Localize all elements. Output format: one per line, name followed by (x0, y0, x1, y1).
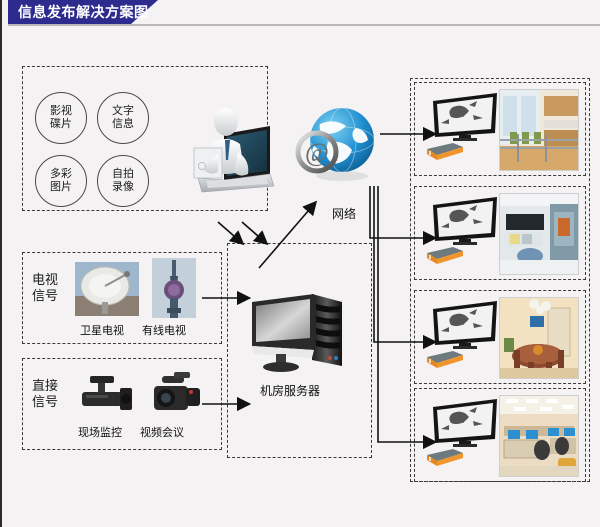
camcorder-icon (144, 370, 204, 418)
tv-signal-label: 电视 信号 (28, 272, 62, 304)
security-camera-icon (76, 374, 138, 418)
source-circle-text-info: 文字 信息 (97, 92, 149, 144)
source-circle-self-recording: 自拍 录像 (97, 155, 149, 207)
source-label-line2: 录像 (112, 181, 134, 194)
endpoint-panel-2 (414, 186, 586, 280)
direct-signal-label: 直接 信号 (28, 378, 62, 410)
endpoint-scene-photo (499, 193, 579, 275)
server-monitor-tower-icon (242, 288, 352, 376)
source-label-line1: 影视 (50, 105, 72, 118)
server-label: 机房服务器 (260, 382, 320, 399)
source-label-line2: 信息 (112, 118, 134, 131)
globe-at-symbol-icon: @ (294, 102, 378, 186)
page-title: 信息发布解决方案图 (18, 2, 149, 23)
endpoint-panel-4 (414, 388, 586, 482)
source-circle-pictures: 多彩 图片 (35, 155, 87, 207)
endpoint-panel-3 (414, 290, 586, 384)
endpoint-scene-photo (499, 395, 579, 477)
satellite-dish-icon (75, 262, 139, 316)
flat-tv-icon (429, 195, 501, 249)
source-label-line1: 自拍 (112, 168, 134, 181)
media-player-box-icon (425, 349, 465, 371)
direct-input-caption-videoconf: 视频会议 (140, 424, 184, 440)
tv-input-caption-cable: 有线电视 (142, 322, 186, 338)
media-player-box-icon (425, 245, 465, 267)
flat-tv-icon (429, 299, 501, 353)
endpoint-panel-1 (414, 82, 586, 176)
source-label-line2: 图片 (50, 181, 72, 194)
media-player-box-icon (425, 447, 465, 469)
diagram-page: 信息发布解决方案图 影视 碟片 文字 信息 多彩 图片 自拍 录像 (0, 0, 600, 527)
source-label-line1: 文字 (112, 105, 134, 118)
tv-tower-icon (152, 258, 196, 318)
flat-tv-icon (429, 91, 501, 145)
header-rule (8, 24, 600, 26)
person-with-laptop-icon (178, 96, 282, 200)
source-circle-video-disc: 影视 碟片 (35, 92, 87, 144)
direct-input-caption-surveillance: 现场监控 (78, 424, 122, 440)
endpoint-scene-photo (499, 297, 579, 379)
source-label-line1: 多彩 (50, 168, 72, 181)
media-player-box-icon (425, 141, 465, 163)
page-header: 信息发布解决方案图 (2, 0, 600, 26)
endpoint-scene-photo (499, 89, 579, 171)
network-label: 网络 (332, 205, 356, 222)
svg-text:@: @ (305, 138, 329, 167)
source-label-line2: 碟片 (50, 118, 72, 131)
flat-tv-icon (429, 397, 501, 451)
tv-input-caption-satellite: 卫星电视 (80, 322, 124, 338)
